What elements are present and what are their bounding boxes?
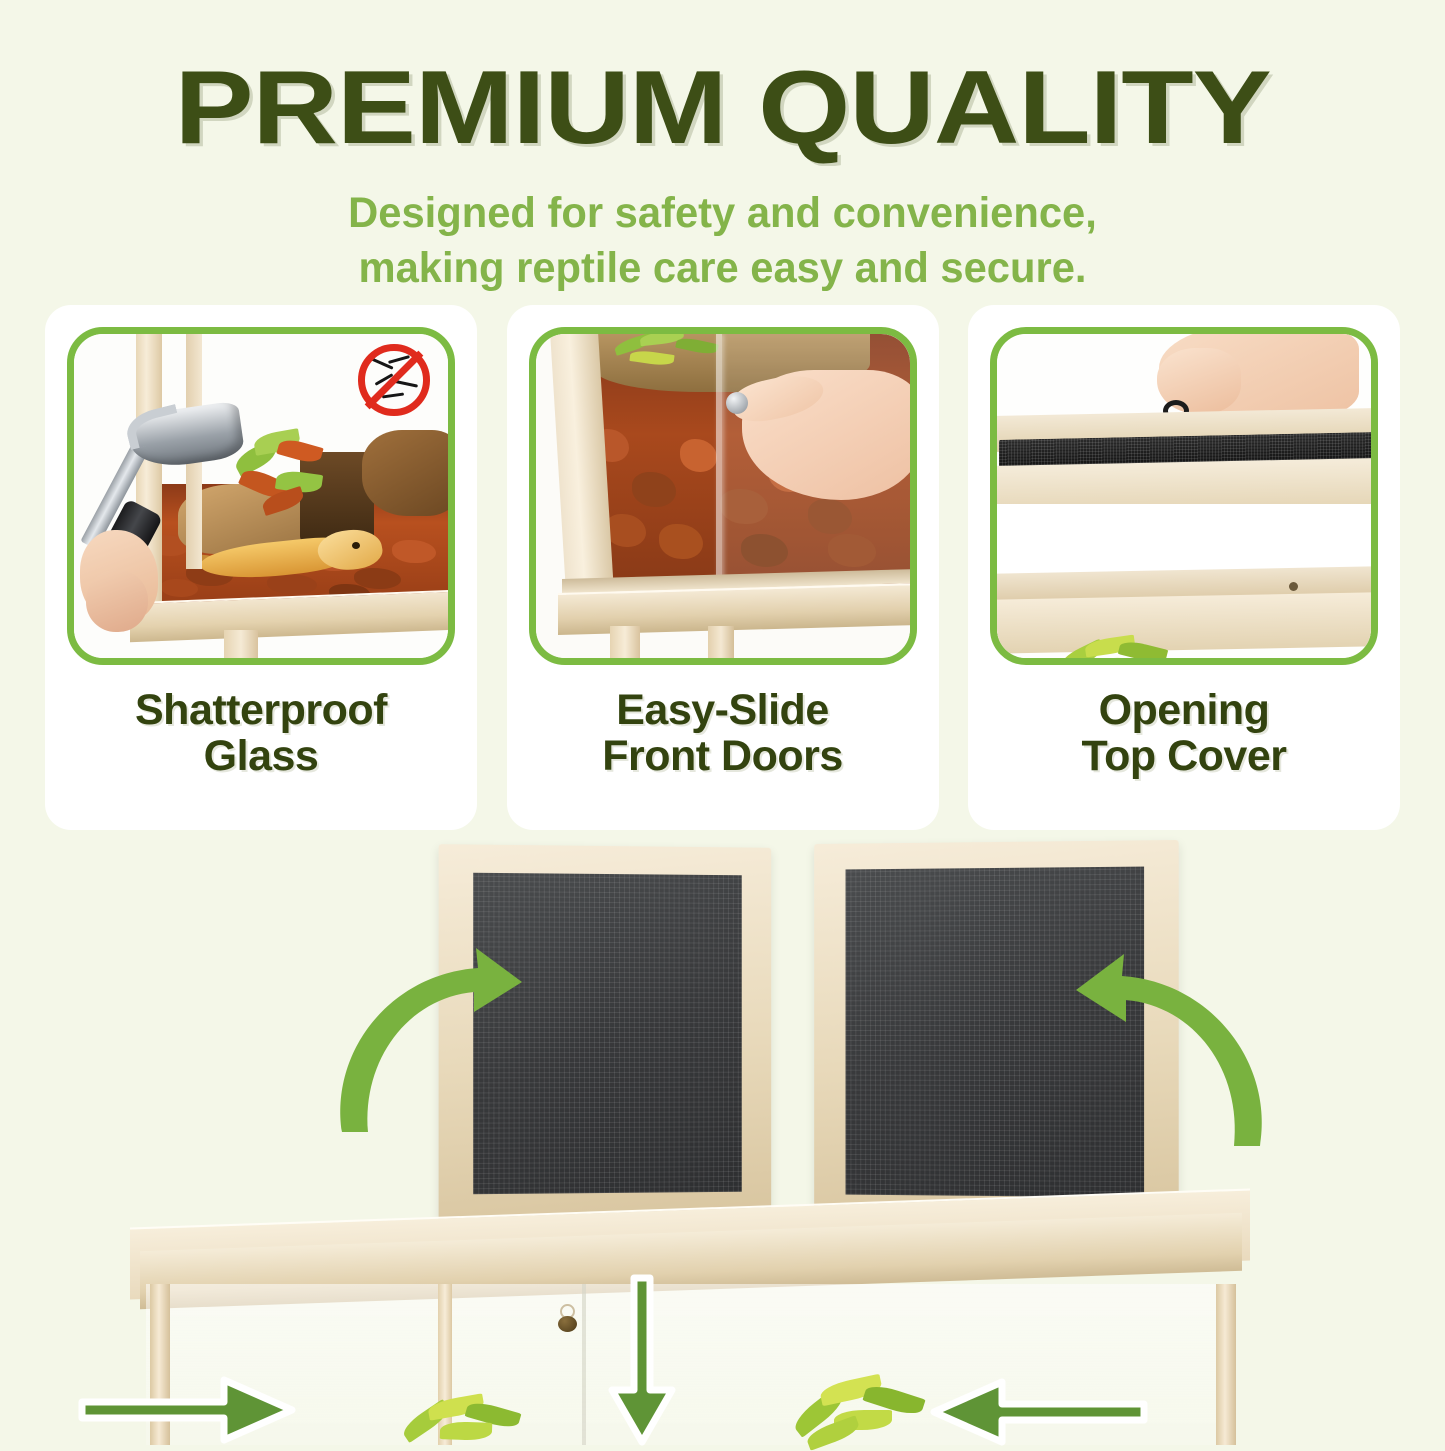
feature-card-row: Shatterproof Glass [45, 305, 1400, 830]
page-subtitle-line-1: Designed for safety and convenience, [22, 186, 1424, 241]
feature-card-label: Shatterproof Glass [135, 687, 387, 780]
page-subtitle: Designed for safety and convenience, mak… [22, 186, 1424, 296]
feature-label-line-1: Shatterproof [135, 687, 387, 733]
door-latch [556, 1304, 578, 1330]
feature-photo-easy-slide-front-doors [529, 327, 917, 665]
arrow-curve-to-right-lid [1056, 936, 1286, 1176]
arrow-right-pointing [78, 1374, 296, 1446]
feature-label-line-2: Glass [135, 733, 387, 779]
arrow-curve-to-left-lid [316, 934, 532, 1160]
page-subtitle-line-2: making reptile care easy and secure. [22, 241, 1424, 296]
terrarium-plant [1059, 634, 1187, 658]
feature-photo-shatterproof-glass [67, 327, 455, 665]
door-knob-icon [726, 392, 748, 414]
feature-card-shatterproof-glass: Shatterproof Glass [45, 305, 477, 830]
terrarium-plant [400, 1392, 550, 1448]
feature-label-line-1: Easy-Slide [602, 687, 843, 733]
feature-card-label: Opening Top Cover [1082, 687, 1287, 780]
page-title: PREMIUM QUALITY [0, 0, 1445, 160]
feature-label-line-1: Opening [1082, 687, 1287, 733]
feature-label-line-2: Top Cover [1082, 733, 1287, 779]
feature-card-opening-top-cover: Opening Top Cover [968, 305, 1400, 830]
screw-icon [1289, 582, 1298, 591]
arrow-down-pointing [600, 1274, 684, 1446]
feature-card-easy-slide-front-doors: Easy-Slide Front Doors [507, 305, 939, 830]
feature-photo-opening-top-cover [990, 327, 1378, 665]
terrarium-driftwood [362, 430, 448, 516]
arrow-left-pointing [930, 1376, 1148, 1448]
feature-card-label: Easy-Slide Front Doors [602, 687, 843, 780]
bearded-dragon [200, 526, 386, 586]
feature-label-line-2: Front Doors [602, 733, 843, 779]
no-crack-icon [358, 344, 430, 416]
